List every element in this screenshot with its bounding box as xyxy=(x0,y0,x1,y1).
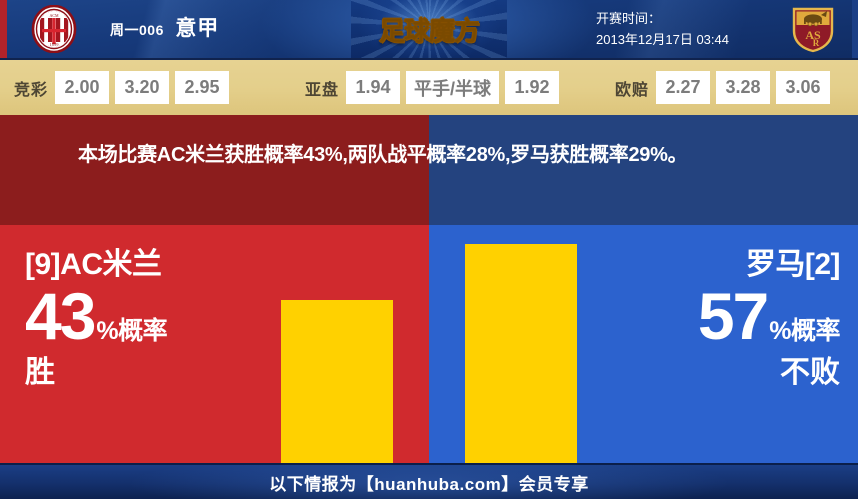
kickoff-value: 2013年12月17日 03:44 xyxy=(596,29,729,50)
as-roma-crest-icon: AS R xyxy=(790,5,836,53)
odds-cell[interactable]: 1.92 xyxy=(505,71,559,104)
header-right-edge xyxy=(852,0,858,58)
footer-bar: 以下情报为【huanhuba.com】会员专享 xyxy=(0,463,858,499)
home-team-panel: [9]AC米兰 43 %概率 胜 xyxy=(0,225,429,463)
kickoff-label: 开赛时间： xyxy=(596,8,729,29)
header-bar: ACM 1899 周一006 意甲 足球魔方 开赛时间： 2013年12月17日… xyxy=(0,0,858,58)
away-probability-bar xyxy=(465,244,577,463)
footer-text: 以下情报为【huanhuba.com】会员专享 xyxy=(269,470,588,495)
header-left-edge xyxy=(0,0,7,58)
home-team-stats: [9]AC米兰 43 %概率 胜 xyxy=(25,247,167,393)
description-band: 本场比赛AC米兰获胜概率43%,两队战平概率28%,罗马获胜概率29%。 xyxy=(0,115,858,225)
probability-chart: [9]AC米兰 43 %概率 胜 罗马[2] 57 %概率 不败 xyxy=(0,225,858,463)
svg-text:1899: 1899 xyxy=(50,42,60,47)
brand-logo[interactable]: 足球魔方 xyxy=(351,0,507,58)
away-team-name: 罗马[2] xyxy=(698,247,840,283)
odds-cell[interactable]: 1.94 xyxy=(346,71,400,104)
odds-group-label: 欧赔 xyxy=(615,76,649,100)
home-team-name: [9]AC米兰 xyxy=(25,247,167,283)
odds-group-oupei: 欧赔 2.27 3.28 3.06 xyxy=(615,60,836,115)
odds-cell[interactable]: 3.28 xyxy=(716,71,770,104)
svg-text:R: R xyxy=(813,38,820,48)
ac-milan-crest-icon: ACM 1899 xyxy=(31,5,77,53)
odds-group-label: 竞彩 xyxy=(14,76,48,100)
odds-cell-handicap[interactable]: 平手/半球 xyxy=(406,71,499,104)
away-percent-value: 57 xyxy=(698,283,767,349)
home-percent-value: 43 xyxy=(25,283,94,349)
description-text: 本场比赛AC米兰获胜概率43%,两队战平概率28%,罗马获胜概率29%。 xyxy=(78,139,778,171)
away-team-panel: 罗马[2] 57 %概率 不败 xyxy=(429,225,858,463)
kickoff-time: 开赛时间： 2013年12月17日 03:44 xyxy=(596,8,729,50)
odds-bar: 竞彩 2.00 3.20 2.95 亚盘 1.94 平手/半球 1.92 欧赔 … xyxy=(0,58,858,115)
odds-cell[interactable]: 3.20 xyxy=(115,71,169,104)
away-team-stats: 罗马[2] 57 %概率 不败 xyxy=(698,247,840,393)
away-percent-line: 57 %概率 xyxy=(698,283,840,349)
brand-logo-text: 足球魔方 xyxy=(351,0,507,58)
odds-cell[interactable]: 2.95 xyxy=(175,71,229,104)
match-league: 意甲 xyxy=(175,17,219,40)
odds-cell[interactable]: 2.00 xyxy=(55,71,109,104)
match-title: 周一006 意甲 xyxy=(110,12,219,42)
home-probability-bar xyxy=(281,300,393,463)
odds-cell[interactable]: 2.27 xyxy=(656,71,710,104)
home-percent-suffix: %概率 xyxy=(96,298,167,364)
odds-cell[interactable]: 3.06 xyxy=(776,71,830,104)
match-preview-card: ACM 1899 周一006 意甲 足球魔方 开赛时间： 2013年12月17日… xyxy=(0,0,858,499)
odds-group-yapan: 亚盘 1.94 平手/半球 1.92 xyxy=(305,60,565,115)
odds-group-label: 亚盘 xyxy=(305,76,339,100)
home-percent-line: 43 %概率 xyxy=(25,283,167,349)
match-round: 周一006 xyxy=(110,22,164,38)
svg-text:ACM: ACM xyxy=(49,13,59,18)
odds-group-jingcai: 竞彩 2.00 3.20 2.95 xyxy=(14,60,235,115)
